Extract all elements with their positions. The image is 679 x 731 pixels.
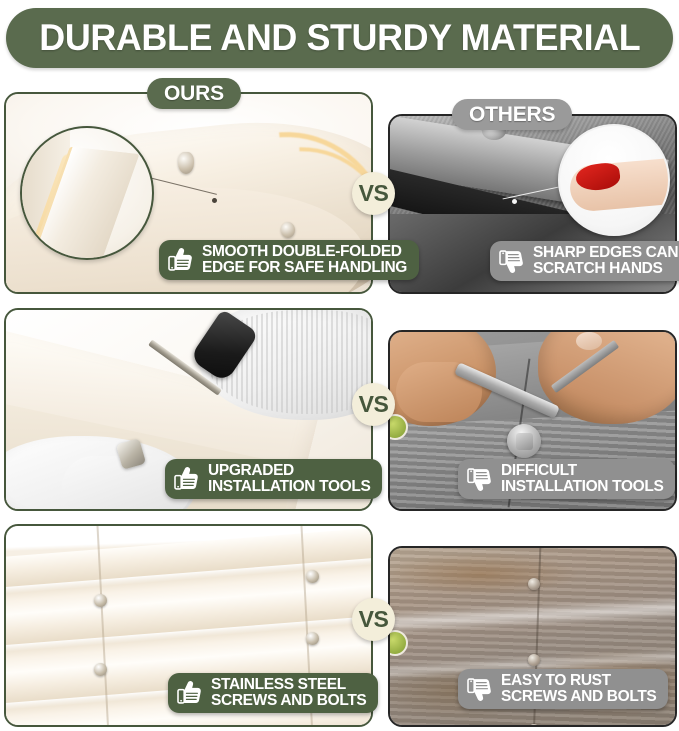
thumbs-up-icon bbox=[166, 245, 196, 275]
vs-badge-row2: VS bbox=[352, 383, 395, 426]
caption-line-2: SCRATCH HANDS bbox=[533, 261, 678, 277]
column-label-ours: OURS bbox=[147, 78, 241, 109]
caption-others-row3: EASY TO RUST SCREWS AND BOLTS bbox=[458, 669, 668, 709]
thumbs-up-icon bbox=[175, 678, 205, 708]
thumbs-down-icon bbox=[465, 674, 495, 704]
caption-ours-row1: SMOOTH DOUBLE-FOLDED EDGE FOR SAFE HANDL… bbox=[159, 240, 419, 280]
caption-line-2: EDGE FOR SAFE HANDLING bbox=[202, 260, 407, 276]
header-banner: DURABLE AND STURDY MATERIAL bbox=[6, 8, 673, 68]
thumbs-up-icon bbox=[172, 464, 202, 494]
caption-line-1: UPGRADED bbox=[208, 463, 370, 479]
caption-line-1: SMOOTH DOUBLE-FOLDED bbox=[202, 244, 407, 260]
thumbs-down-icon bbox=[465, 464, 495, 494]
caption-line-1: SHARP EDGES CAN bbox=[533, 245, 678, 261]
column-label-others: OTHERS bbox=[452, 99, 572, 130]
caption-others-row2: DIFFICULT INSTALLATION TOOLS bbox=[458, 459, 675, 499]
caption-ours-row3: STAINLESS STEEL SCREWS AND BOLTS bbox=[168, 673, 378, 713]
thumbs-down-icon bbox=[497, 246, 527, 276]
caption-line-1: STAINLESS STEEL bbox=[211, 677, 366, 693]
magnifier-inset-smooth-edge bbox=[20, 126, 154, 260]
caption-others-row1: SHARP EDGES CAN SCRATCH HANDS bbox=[490, 241, 679, 281]
caption-ours-row2: UPGRADED INSTALLATION TOOLS bbox=[165, 459, 382, 499]
magnifier-inset-cut-finger bbox=[558, 124, 670, 236]
vs-badge-row3: VS bbox=[352, 598, 395, 641]
caption-line-2: SCREWS AND BOLTS bbox=[211, 693, 366, 709]
caption-line-1: DIFFICULT bbox=[501, 463, 663, 479]
caption-line-2: SCREWS AND BOLTS bbox=[501, 689, 656, 705]
vs-badge-row1: VS bbox=[352, 172, 395, 215]
caption-line-1: EASY TO RUST bbox=[501, 673, 656, 689]
caption-line-2: INSTALLATION TOOLS bbox=[208, 479, 370, 495]
page-title: DURABLE AND STURDY MATERIAL bbox=[39, 17, 640, 59]
caption-line-2: INSTALLATION TOOLS bbox=[501, 479, 663, 495]
